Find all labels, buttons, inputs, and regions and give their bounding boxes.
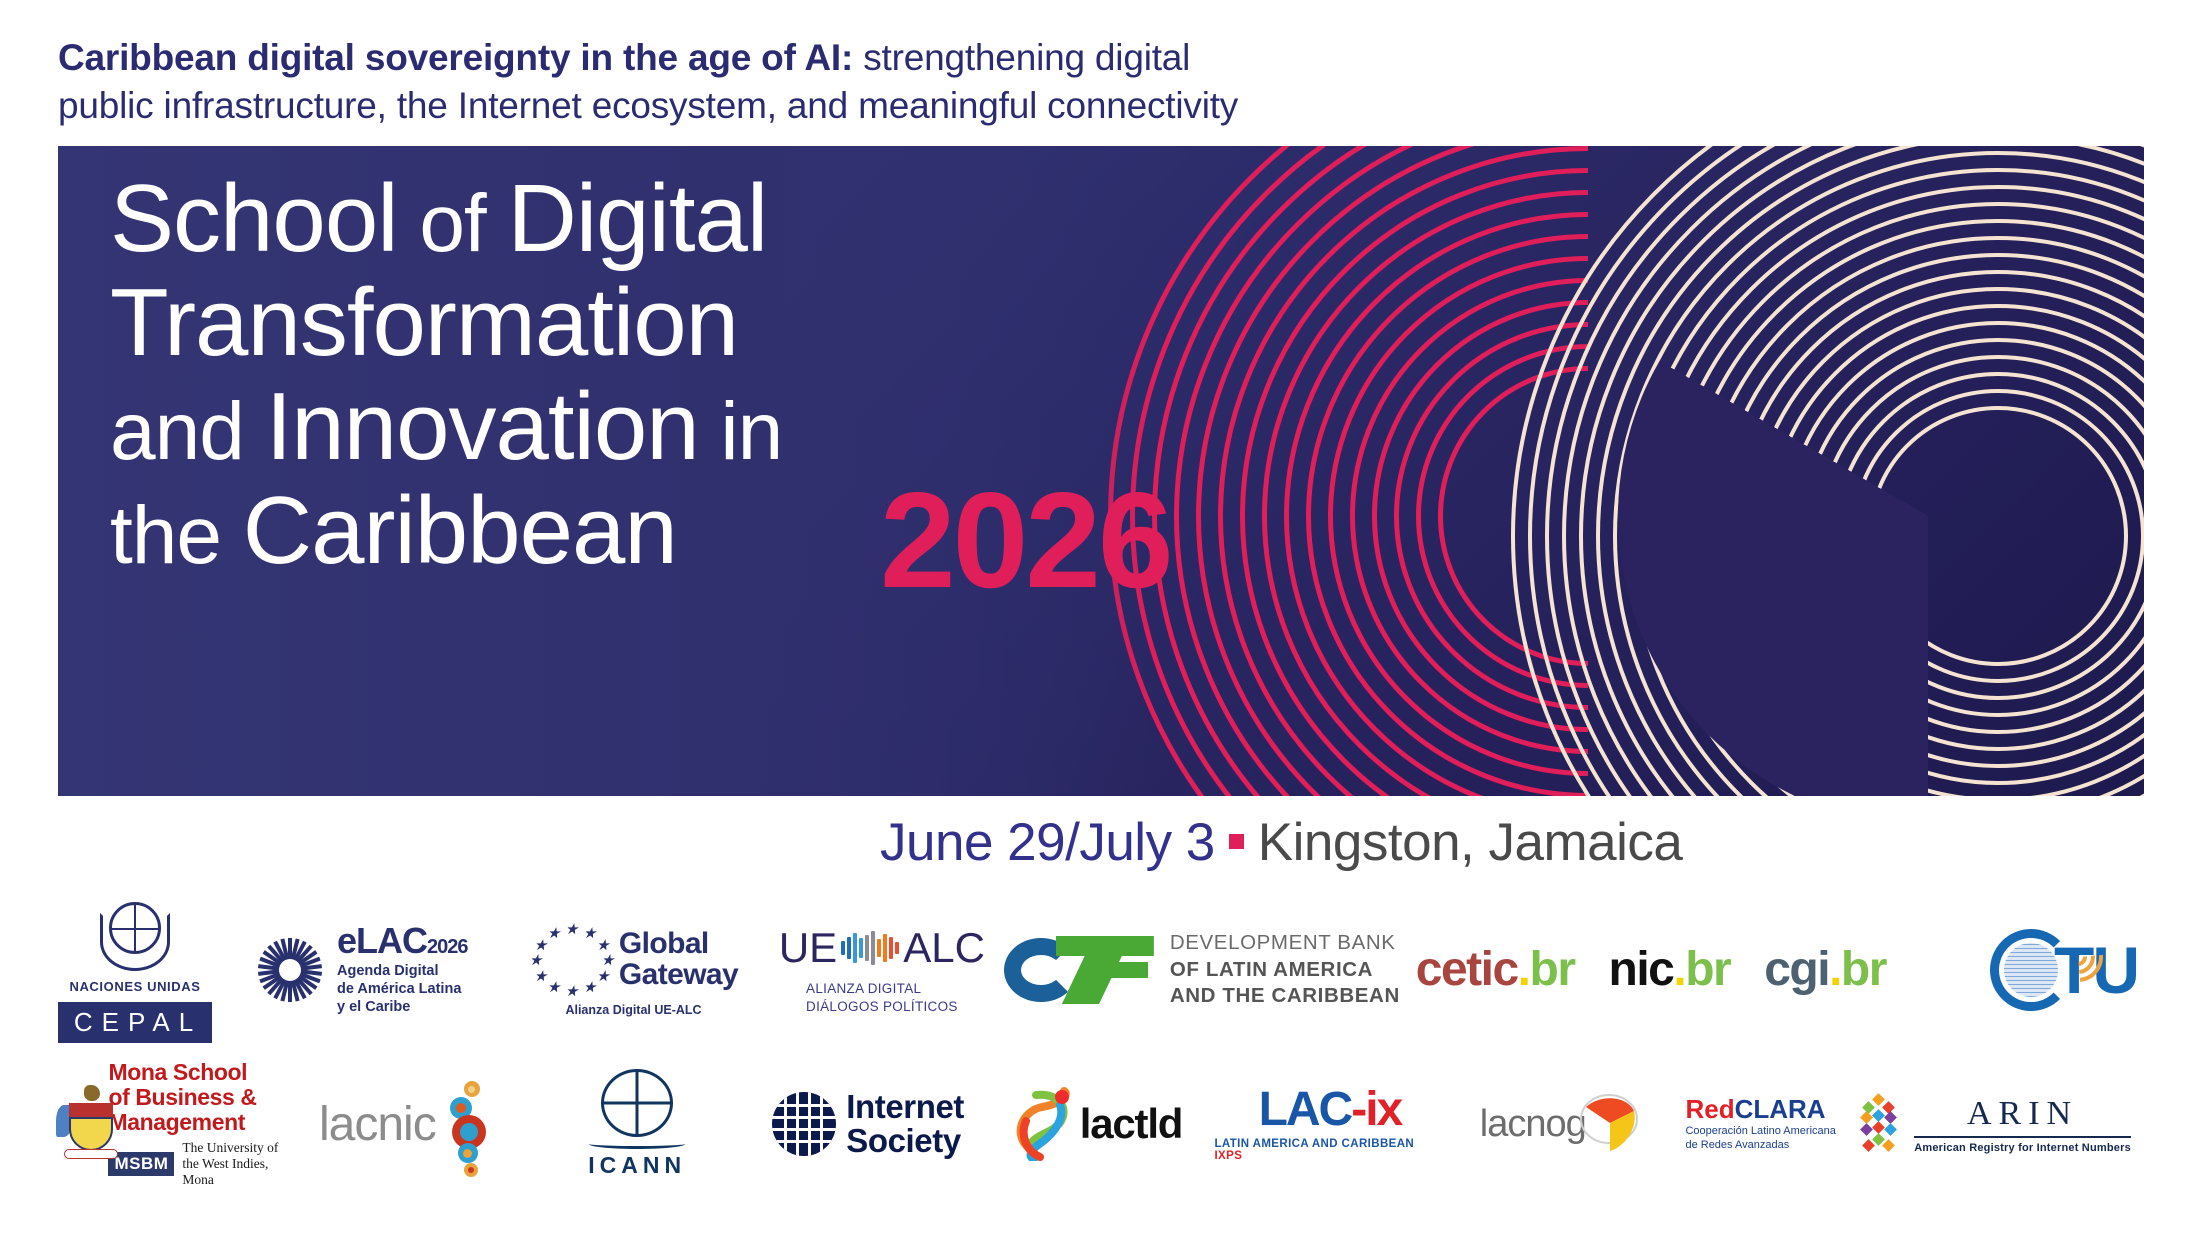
united-nations-emblem-icon — [96, 897, 174, 975]
hero-title: School of Digital Transformation and Inn… — [110, 170, 782, 586]
logo-lacnic[interactable]: lacnic — [291, 1081, 522, 1167]
headline-bold: Caribbean digital sovereignty in the age… — [58, 37, 853, 78]
itu-globe-icon — [1990, 929, 2072, 1011]
cepal-wordmark: CEPAL — [58, 1002, 212, 1043]
hero-title-line-2: Transformation — [110, 274, 782, 372]
redclara-diamond-icon — [1844, 1095, 1898, 1153]
lacnog-wordmark: lacnog — [1480, 1103, 1586, 1146]
logo-lactld[interactable]: lactld — [984, 1087, 1215, 1161]
lacix-part-1: LAC — [1259, 1083, 1352, 1136]
redclara-red: Red — [1685, 1094, 1734, 1124]
cetic-dot-icon: . — [1518, 943, 1530, 996]
elac-sub-2: de América Latina — [337, 981, 468, 999]
hero-title-line-3: and Innovation in — [110, 378, 782, 476]
event-dates: June 29/July 3 — [880, 813, 1215, 872]
dateline-separator-icon — [1229, 834, 1244, 849]
logo-cgi-br[interactable]: cgi.br — [1764, 946, 1886, 994]
equalizer-bars-icon — [841, 931, 899, 965]
un-label: NACIONES UNIDAS — [69, 979, 200, 994]
lacnic-wordmark: lacnic — [319, 1097, 436, 1152]
sponsor-row-1: NACIONES UNIDAS CEPAL eLAC2026 Agenda Di… — [0, 900, 2198, 1040]
sponsor-logos: NACIONES UNIDAS CEPAL eLAC2026 Agenda Di… — [0, 900, 2198, 1184]
caf-line-3: AND THE CARIBBEAN — [1170, 983, 1400, 1010]
hero-title-innovation: Innovation — [266, 373, 699, 480]
arin-tagline: American Registry for Internet Numbers — [1914, 1142, 2131, 1154]
ue-alc-caption-2: DIÁLOGOS POLÍTICOS — [806, 998, 958, 1016]
logo-itu[interactable]: TU — [1899, 929, 2138, 1011]
nic-name: nic — [1609, 943, 1674, 996]
poster-canvas: Caribbean digital sovereignty in the age… — [0, 0, 2198, 1259]
logo-lacix[interactable]: LAC-ix LATIN AMERICA AND CARIBBEAN IXPS — [1214, 1086, 1445, 1162]
logo-elac[interactable]: eLAC2026 Agenda Digital de América Latin… — [218, 923, 505, 1016]
logo-br-group[interactable]: cetic.br nic.br cgi.br — [1402, 946, 1899, 994]
caf-mark-icon — [1004, 934, 1154, 1006]
event-year: 2026 — [880, 472, 1171, 608]
logo-ue-alc[interactable]: UE ALC ALIANZA DIGITAL DIÁLOGOS POLÍTICO… — [762, 924, 1001, 1015]
arin-wordmark: ARIN — [1967, 1095, 2078, 1133]
logo-global-gateway[interactable]: ★★★★★★★★★★★★ Global Gateway Alianza Digi… — [505, 923, 763, 1017]
icann-swoosh-icon — [589, 1139, 685, 1149]
hero-title-the: the — [110, 490, 243, 581]
hero-title-of: of — [398, 178, 508, 269]
internet-society-globe-icon — [772, 1092, 836, 1156]
ue-alc-right: ALC — [903, 924, 985, 972]
logo-internet-society[interactable]: Internet Society — [753, 1090, 984, 1159]
lacnic-dots-icon — [438, 1081, 494, 1167]
cgi-dot-icon: . — [1829, 943, 1841, 996]
lacnog-swirl-icon — [1576, 1089, 1642, 1159]
elac-sub-1: Agenda Digital — [337, 963, 468, 981]
lactld-knot-icon — [1016, 1087, 1074, 1161]
icann-globe-icon — [601, 1069, 673, 1137]
cetic-name: cetic — [1416, 943, 1518, 996]
cetic-br: br — [1530, 943, 1575, 996]
logo-icann[interactable]: ICANN — [522, 1069, 753, 1179]
nic-br: br — [1685, 943, 1730, 996]
lacix-sub-1: LATIN AMERICA AND CARIBBEAN — [1214, 1138, 1414, 1150]
headline-rest: strengthening digital — [853, 37, 1190, 78]
isoc-line-2: Society — [846, 1124, 964, 1158]
hero-title-digital: Digital — [507, 165, 767, 272]
hero-title-in: in — [699, 386, 783, 477]
headline-line2: public infrastructure, the Internet ecos… — [58, 85, 1238, 126]
hero-title-line-4: the Caribbean — [110, 482, 782, 580]
elac-name: eLAC — [337, 920, 427, 961]
logo-cetic-br[interactable]: cetic.br — [1416, 946, 1575, 994]
isoc-line-1: Internet — [846, 1090, 964, 1124]
global-gateway-word-1: Global — [619, 929, 738, 960]
msbm-line-3: Management — [108, 1110, 290, 1135]
logo-msbm[interactable]: Mona School of Business & Management MSB… — [60, 1060, 291, 1187]
logo-arin[interactable]: ARIN American Registry for Internet Numb… — [1907, 1095, 2138, 1154]
sponsor-row-2: Mona School of Business & Management MSB… — [0, 1064, 2198, 1184]
logo-nic-br[interactable]: nic.br — [1609, 946, 1731, 994]
msbm-line-2: of Business & — [108, 1085, 290, 1110]
logo-lacnog[interactable]: lacnog — [1445, 1089, 1676, 1159]
logo-caf[interactable]: DEVELOPMENT BANK OF LATIN AMERICA AND TH… — [1001, 930, 1402, 1010]
logo-cepal[interactable]: NACIONES UNIDAS CEPAL — [60, 897, 210, 1043]
lactld-wordmark: lactld — [1080, 1100, 1183, 1148]
event-location: Kingston, Jamaica — [1258, 813, 1683, 872]
page-headline: Caribbean digital sovereignty in the age… — [58, 34, 1758, 130]
msbm-university: The University of the West Indies, Mona — [182, 1140, 290, 1188]
cgi-br: br — [1841, 943, 1886, 996]
caf-line-1: DEVELOPMENT BANK — [1170, 930, 1400, 957]
caf-line-2: OF LATIN AMERICA — [1170, 957, 1400, 984]
global-gateway-caption: Alianza Digital UE-ALC — [565, 1003, 701, 1017]
sunburst-icon — [255, 935, 325, 1005]
icann-wordmark: ICANN — [588, 1152, 686, 1179]
msbm-line-1: Mona School — [108, 1060, 290, 1085]
ue-alc-caption-1: ALIANZA DIGITAL — [806, 980, 958, 998]
hero-title-caribbean: Caribbean — [243, 477, 677, 584]
eu-stars-icon: ★★★★★★★★★★★★ — [529, 923, 615, 997]
logo-redclara[interactable]: RedCLARA Cooperación Latino Americana de… — [1676, 1095, 1907, 1153]
redclara-blue: CLARA — [1735, 1094, 1826, 1124]
arin-rule — [1914, 1136, 2131, 1138]
hero-title-school: School — [110, 165, 398, 272]
elac-year: 2026 — [427, 936, 468, 958]
redclara-sub-1: Cooperación Latino Americana — [1685, 1125, 1835, 1139]
cgi-name: cgi — [1764, 943, 1829, 996]
lacix-sub-2: IXPS — [1214, 1150, 1242, 1162]
redclara-sub-2: de Redes Avanzadas — [1685, 1139, 1835, 1153]
msbm-tag: MSBM — [108, 1152, 174, 1176]
nic-dot-icon: . — [1673, 943, 1685, 996]
uwi-crest-icon — [60, 1085, 98, 1163]
global-gateway-word-2: Gateway — [619, 960, 738, 991]
elac-sub-3: y el Caribe — [337, 999, 468, 1017]
ue-alc-left: UE — [779, 924, 837, 972]
lacix-part-2: -ix — [1351, 1083, 1401, 1136]
hero-title-line-1: School of Digital — [110, 170, 782, 268]
hero-title-and: and — [110, 386, 266, 477]
event-dateline: June 29/July 3Kingston, Jamaica — [880, 812, 1682, 873]
hero-title-transformation: Transformation — [110, 269, 738, 376]
